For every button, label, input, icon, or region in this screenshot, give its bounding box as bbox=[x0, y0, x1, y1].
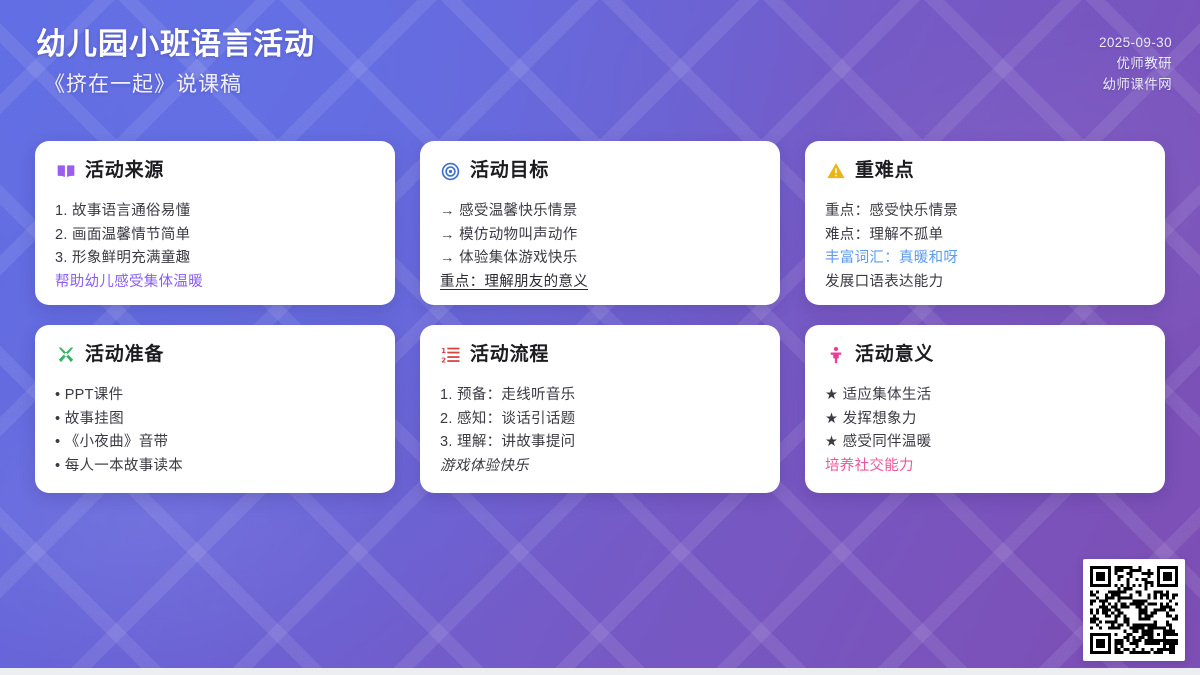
card-header: 重难点 bbox=[825, 158, 1145, 184]
card-title: 活动意义 bbox=[855, 344, 934, 366]
card-line: 1. 故事语言通俗易懂 bbox=[55, 200, 375, 224]
card-header: 活动目标 bbox=[440, 158, 760, 184]
card-line: • PPT课件 bbox=[55, 384, 375, 408]
card-header: 活动准备 bbox=[55, 342, 375, 368]
card-body: → 感受温馨快乐情景→ 模仿动物叫声动作→ 体验集体游戏快乐重点：理解朋友的意义 bbox=[440, 200, 760, 294]
meta-date: 2025-09-30 bbox=[1099, 32, 1172, 53]
card-line: • 《小夜曲》音带 bbox=[55, 431, 375, 455]
card-line: 难点：理解不孤单 bbox=[825, 224, 1145, 248]
card-body: 1. 预备：走线听音乐2. 感知：谈话引话题3. 理解：讲故事提问游戏体验快乐 bbox=[440, 384, 760, 478]
card-line: ★ 发挥想象力 bbox=[825, 408, 1145, 432]
page-subtitle: 《挤在一起》说课稿 bbox=[44, 69, 315, 101]
card-body: ★ 适应集体生活★ 发挥想象力★ 感受同伴温暖培养社交能力 bbox=[825, 384, 1145, 478]
card-line: 3. 形象鲜明充满童趣 bbox=[55, 247, 375, 271]
qr-code-image bbox=[1090, 566, 1178, 654]
slide-header: 幼儿园小班语言活动 《挤在一起》说课稿 2025-09-30 优师教研 幼师课件… bbox=[0, 0, 1200, 125]
header-meta: 2025-09-30 优师教研 幼师课件网 bbox=[1099, 32, 1172, 95]
card-line: 1. 预备：走线听音乐 bbox=[440, 384, 760, 408]
crossed-tools-icon bbox=[55, 345, 76, 366]
child-person-icon bbox=[825, 345, 846, 366]
qr-code[interactable] bbox=[1083, 559, 1185, 661]
card-line: 3. 理解：讲故事提问 bbox=[440, 431, 760, 455]
slide-root: 幼儿园小班语言活动 《挤在一起》说课稿 2025-09-30 优师教研 幼师课件… bbox=[0, 0, 1200, 675]
card-title: 活动准备 bbox=[85, 344, 164, 366]
card-body: 1. 故事语言通俗易懂2. 画面温馨情节简单3. 形象鲜明充满童趣帮助幼儿感受集… bbox=[55, 200, 375, 294]
card-header: 活动来源 bbox=[55, 158, 375, 184]
card-line: 重点：理解朋友的意义 bbox=[440, 271, 760, 295]
card-title: 活动目标 bbox=[470, 160, 549, 182]
card-line: 2. 感知：谈话引话题 bbox=[440, 408, 760, 432]
card-line: 培养社交能力 bbox=[825, 455, 1145, 479]
card-activity-preparation: 活动准备• PPT课件• 故事挂图• 《小夜曲》音带• 每人一本故事读本 bbox=[35, 325, 395, 493]
title-block: 幼儿园小班语言活动 《挤在一起》说课稿 bbox=[36, 25, 315, 101]
card-header: 活动意义 bbox=[825, 342, 1145, 368]
card-body: • PPT课件• 故事挂图• 《小夜曲》音带• 每人一本故事读本 bbox=[55, 384, 375, 478]
card-line: ★ 适应集体生活 bbox=[825, 384, 1145, 408]
card-title: 重难点 bbox=[855, 160, 914, 182]
card-line: 发展口语表达能力 bbox=[825, 271, 1145, 295]
card-line: • 故事挂图 bbox=[55, 408, 375, 432]
svg-text:2: 2 bbox=[441, 355, 446, 364]
card-line: 游戏体验快乐 bbox=[440, 455, 760, 479]
warning-triangle-icon bbox=[825, 161, 846, 182]
meta-org: 优师教研 bbox=[1099, 53, 1172, 74]
card-activity-source: 活动来源1. 故事语言通俗易懂2. 画面温馨情节简单3. 形象鲜明充满童趣帮助幼… bbox=[35, 141, 395, 305]
page-title: 幼儿园小班语言活动 bbox=[36, 25, 315, 65]
card-key-difficulty: 重难点重点：感受快乐情景难点：理解不孤单丰富词汇：真暖和呀发展口语表达能力 bbox=[805, 141, 1165, 305]
card-line: → 体验集体游戏快乐 bbox=[440, 247, 760, 271]
card-grid: 活动来源1. 故事语言通俗易懂2. 画面温馨情节简单3. 形象鲜明充满童趣帮助幼… bbox=[35, 141, 1165, 493]
open-book-icon bbox=[55, 161, 76, 182]
numbered-list-icon: 12 bbox=[440, 345, 461, 366]
svg-text:1: 1 bbox=[441, 346, 446, 355]
card-activity-goals: 活动目标→ 感受温馨快乐情景→ 模仿动物叫声动作→ 体验集体游戏快乐重点：理解朋… bbox=[420, 141, 780, 305]
card-line: 重点：感受快乐情景 bbox=[825, 200, 1145, 224]
card-title: 活动来源 bbox=[85, 160, 164, 182]
target-icon bbox=[440, 161, 461, 182]
card-line: 2. 画面温馨情节简单 bbox=[55, 224, 375, 248]
card-line: • 每人一本故事读本 bbox=[55, 455, 375, 479]
meta-site: 幼师课件网 bbox=[1099, 74, 1172, 95]
bottom-strip bbox=[0, 668, 1200, 675]
card-line: 帮助幼儿感受集体温暖 bbox=[55, 271, 375, 295]
card-line: 丰富词汇：真暖和呀 bbox=[825, 247, 1145, 271]
card-header: 12活动流程 bbox=[440, 342, 760, 368]
card-title: 活动流程 bbox=[470, 344, 549, 366]
card-activity-process: 12活动流程1. 预备：走线听音乐2. 感知：谈话引话题3. 理解：讲故事提问游… bbox=[420, 325, 780, 493]
card-line: ★ 感受同伴温暖 bbox=[825, 431, 1145, 455]
card-activity-meaning: 活动意义★ 适应集体生活★ 发挥想象力★ 感受同伴温暖培养社交能力 bbox=[805, 325, 1165, 493]
card-body: 重点：感受快乐情景难点：理解不孤单丰富词汇：真暖和呀发展口语表达能力 bbox=[825, 200, 1145, 294]
card-line: → 感受温馨快乐情景 bbox=[440, 200, 760, 224]
card-line: → 模仿动物叫声动作 bbox=[440, 224, 760, 248]
